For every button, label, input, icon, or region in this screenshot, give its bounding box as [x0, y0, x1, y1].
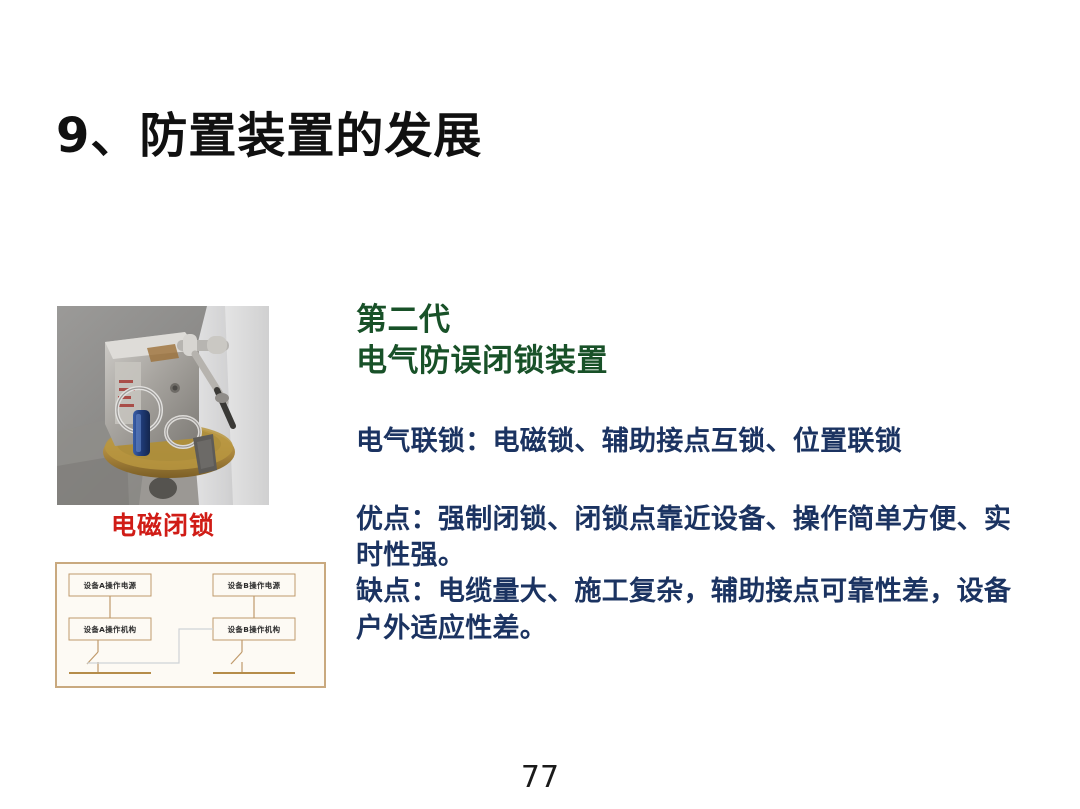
schematic-label-b-mechanism: 设备B操作机构 — [228, 625, 281, 634]
page-number: 77 — [0, 760, 1080, 795]
electromagnetic-lock-photo — [57, 306, 269, 505]
schematic-label-a-power: 设备A操作电源 — [84, 581, 137, 590]
schematic-label-a-mechanism: 设备A操作机构 — [84, 625, 137, 634]
photo-artwork — [57, 306, 269, 505]
electrical-interlock-schematic: 设备A操作电源 设备B操作电源 设备A操作机构 设备B操作机构 — [55, 562, 326, 688]
advantages-paragraph: 优点：强制闭锁、闭锁点靠近设备、操作简单方便、实时性强。 — [356, 502, 1016, 574]
interlock-description: 电气联锁：电磁锁、辅助接点互锁、位置联锁 — [356, 424, 1016, 460]
schematic-artwork: 设备A操作电源 设备B操作电源 设备A操作机构 设备B操作机构 — [57, 564, 324, 686]
page-title: 9、防置装置的发展 — [56, 109, 482, 165]
schematic-label-b-power: 设备B操作电源 — [228, 581, 281, 590]
disadvantages-paragraph: 缺点：电缆量大、施工复杂，辅助接点可靠性差，设备户外适应性差。 — [356, 574, 1016, 646]
generation-heading-line1: 第二代 — [356, 300, 1016, 341]
photo-caption: 电磁闭锁 — [57, 506, 269, 542]
spacer-2 — [356, 460, 1016, 502]
content-text-column: 第二代 电气防误闭锁装置 电气联锁：电磁锁、辅助接点互锁、位置联锁 优点：强制闭… — [356, 300, 1016, 647]
slide-canvas: 9、防置装置的发展 — [0, 0, 1080, 809]
spacer-1 — [356, 382, 1016, 424]
generation-heading-line2: 电气防误闭锁装置 — [356, 341, 1016, 382]
